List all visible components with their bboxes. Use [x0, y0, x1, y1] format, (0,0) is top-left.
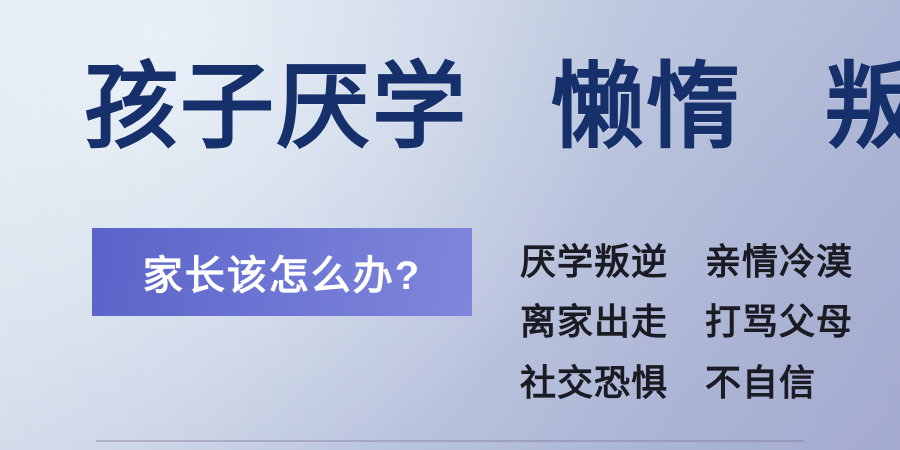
keyword-row: 离家出走 打骂父母	[520, 292, 853, 352]
keyword-list: 厌学叛逆 亲情冷漠 离家出走 打骂父母 社交恐惧 不自信	[520, 232, 853, 413]
keyword-row: 厌学叛逆 亲情冷漠	[520, 232, 853, 292]
cta-banner[interactable]: 家长该怎么办?	[92, 228, 472, 316]
poster-canvas: 孩子厌学 懒惰 叛逆 家长该怎么办? 厌学叛逆 亲情冷漠 离家出走 打骂父母 社…	[0, 0, 900, 450]
headline-segment-1: 孩子厌学	[84, 54, 468, 159]
keyword-item: 不自信	[705, 353, 816, 413]
headline-segment-3: 叛逆	[825, 54, 900, 159]
cta-label: 家长该怎么办?	[143, 243, 421, 301]
page-title: 孩子厌学 懒惰 叛逆	[84, 58, 900, 157]
keyword-item: 打骂父母	[705, 292, 853, 352]
keyword-item: 离家出走	[520, 292, 668, 352]
keyword-item: 厌学叛逆	[520, 232, 668, 292]
keyword-item: 社交恐惧	[520, 353, 668, 413]
keyword-row: 社交恐惧 不自信	[520, 353, 853, 413]
divider	[96, 440, 804, 442]
keyword-item: 亲情冷漠	[705, 232, 853, 292]
headline-segment-2: 懒惰	[550, 54, 742, 159]
